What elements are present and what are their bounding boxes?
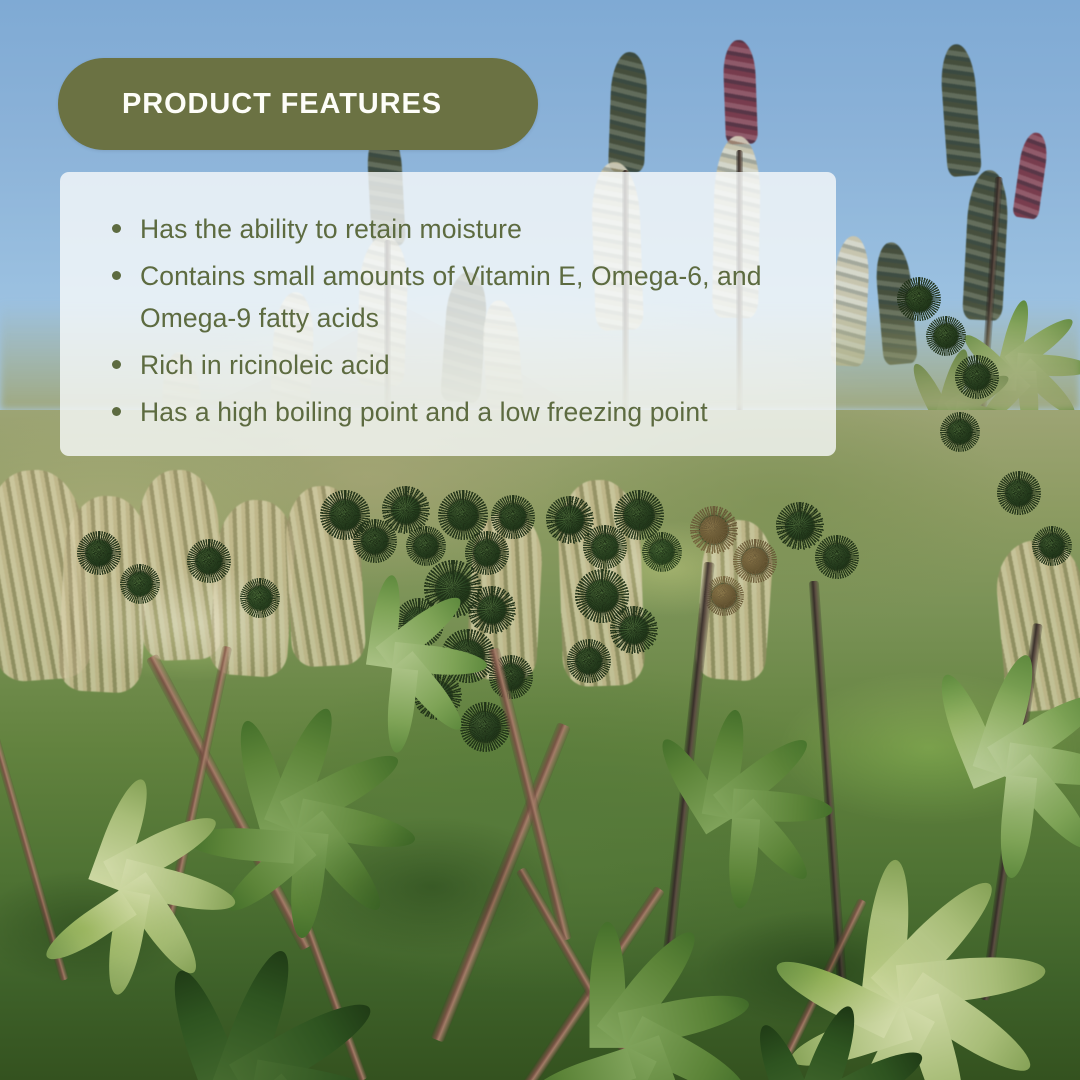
features-panel: Has the ability to retain moisture Conta… (60, 172, 836, 456)
list-item: Has the ability to retain moisture (92, 208, 806, 250)
page-title: PRODUCT FEATURES (122, 90, 442, 119)
feature-text: Contains small amounts of Vitamin E, Ome… (140, 255, 806, 339)
sunlight-dapple (0, 389, 1080, 1080)
list-item: Has a high boiling point and a low freez… (92, 391, 806, 433)
bullet-icon (112, 224, 121, 233)
list-item: Contains small amounts of Vitamin E, Ome… (92, 255, 806, 339)
castor-field-photo (0, 0, 1080, 1080)
bullet-icon (112, 360, 121, 369)
list-item: Rich in ricinoleic acid (92, 344, 806, 386)
bullet-icon (112, 271, 121, 280)
feature-text: Has a high boiling point and a low freez… (140, 391, 806, 433)
poster-canvas: PRODUCT FEATURES Has the ability to reta… (0, 0, 1080, 1080)
bullet-icon (112, 407, 121, 416)
feature-list: Has the ability to retain moisture Conta… (92, 208, 806, 433)
feature-text: Has the ability to retain moisture (140, 208, 806, 250)
product-features-badge: PRODUCT FEATURES (58, 58, 538, 150)
feature-text: Rich in ricinoleic acid (140, 344, 806, 386)
